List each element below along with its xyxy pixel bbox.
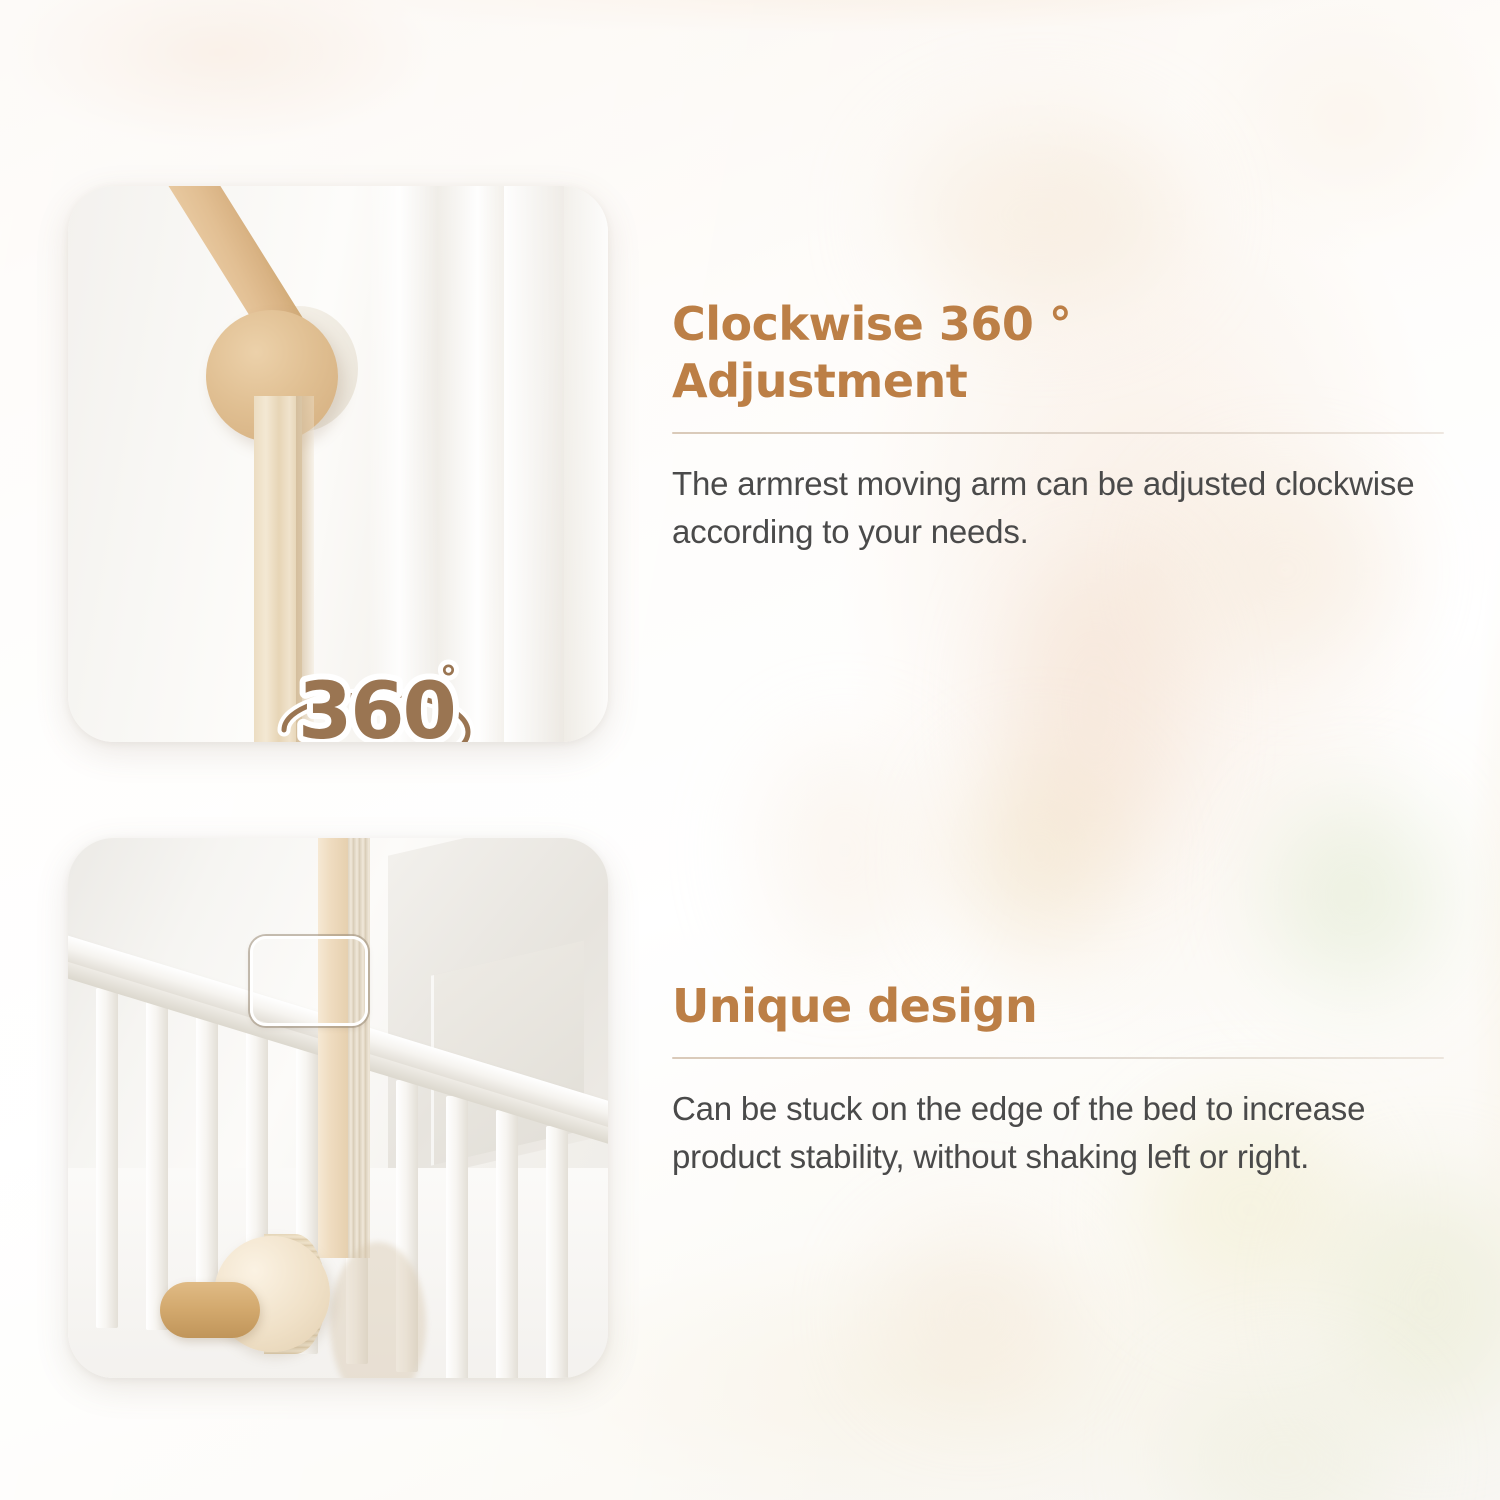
photo-scene-bottom	[68, 838, 608, 1378]
feature-heading: Unique design	[672, 978, 1444, 1035]
feature-heading-line-2: Adjustment	[672, 354, 967, 408]
crib-slat	[96, 988, 118, 1328]
curtain-fold	[564, 186, 608, 742]
feature-block-unique-design: Unique design Can be stuck on the edge o…	[672, 978, 1444, 1181]
curtain-fold	[368, 186, 438, 742]
heading-divider	[672, 1057, 1444, 1059]
feature-heading-line-1: Clockwise 360 °	[672, 297, 1071, 351]
feature-description: The armrest moving arm can be adjusted c…	[672, 460, 1434, 556]
photo-scene-top: 360 360 ° °	[68, 186, 608, 742]
wooden-swivel-arm-photo: 360 360 ° °	[68, 186, 608, 742]
heading-divider	[672, 432, 1444, 434]
feature-block-clockwise-360: Clockwise 360 ° Adjustment The armrest m…	[672, 296, 1444, 556]
crib-slat	[496, 1110, 518, 1378]
product-vertical-post	[318, 838, 348, 1258]
product-post-laminate-edge	[348, 838, 370, 1258]
crib-rail-mount-photo	[68, 838, 608, 1378]
feature-heading-line-1: Unique design	[672, 979, 1037, 1033]
crib-slat	[146, 1000, 168, 1330]
wooden-post-edge	[296, 396, 314, 742]
product-feature-infographic: 360 360 ° °	[0, 0, 1500, 1500]
feature-heading: Clockwise 360 ° Adjustment	[672, 296, 1444, 410]
crib-slat	[446, 1096, 468, 1378]
feature-description: Can be stuck on the edge of the bed to i…	[672, 1085, 1434, 1181]
wooden-upright-post	[254, 396, 302, 742]
curtain-fold	[504, 186, 564, 742]
clamp-peg	[160, 1282, 260, 1338]
curtain-fold	[438, 186, 504, 742]
detail-highlight-box	[250, 936, 368, 1026]
crib-slat	[546, 1126, 568, 1378]
